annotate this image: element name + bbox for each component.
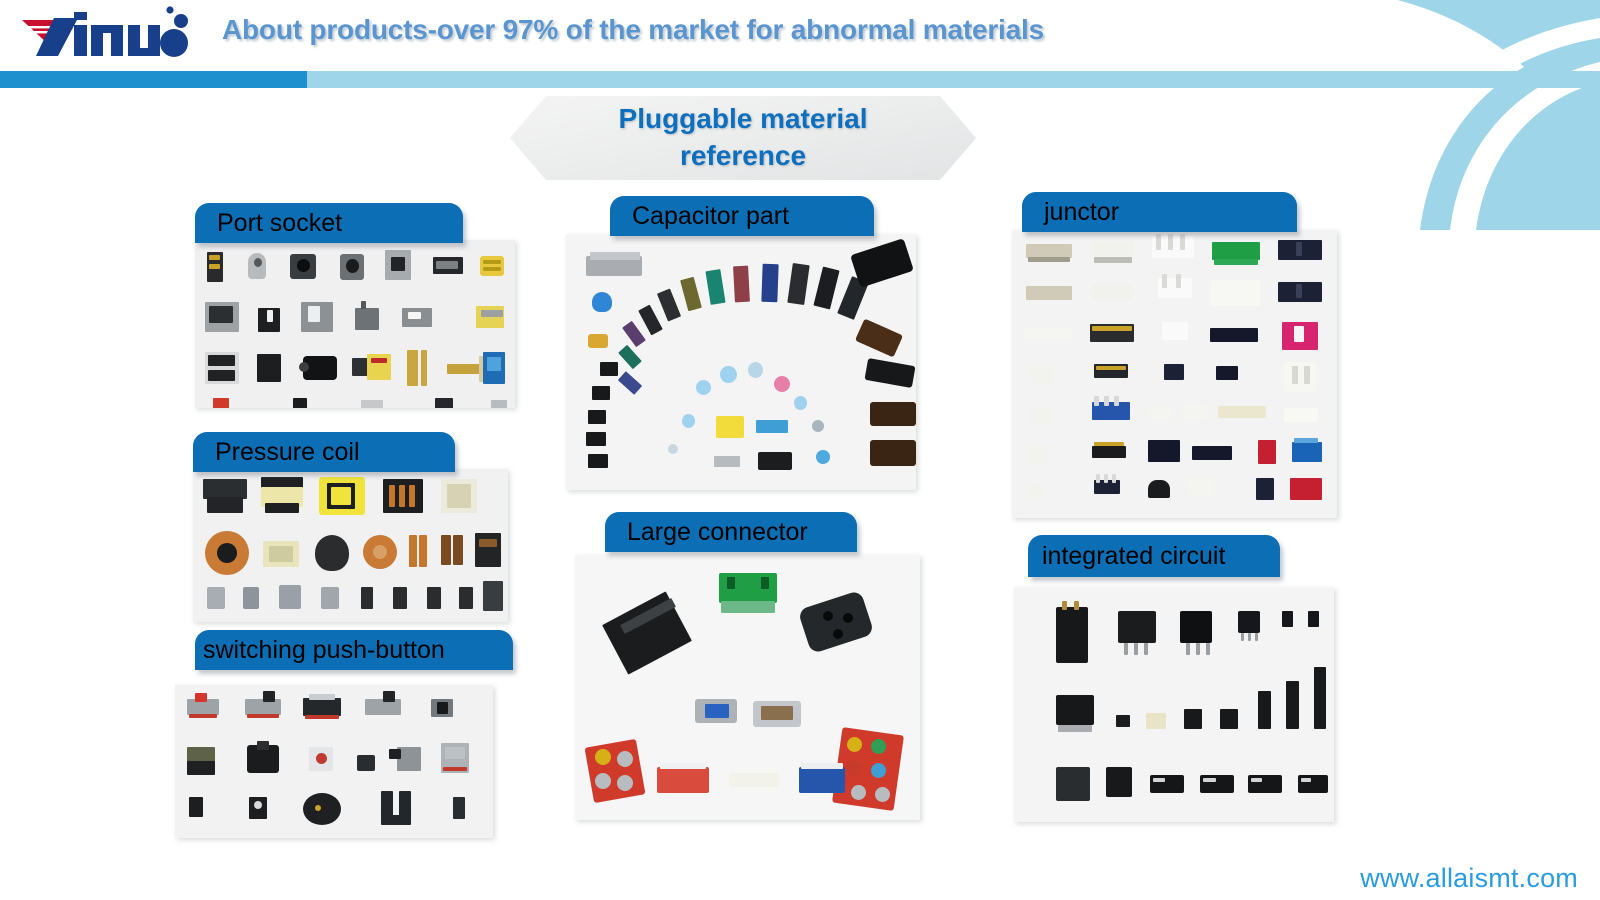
section-switching-push-button: switching push-button xyxy=(195,630,515,838)
footer-website-url[interactable]: www.allaismt.com xyxy=(1360,863,1578,894)
label-pressure-coil[interactable]: Pressure coil xyxy=(193,432,455,472)
photo-integrated-circuit-content xyxy=(1014,587,1334,822)
header-divider-bar xyxy=(0,71,1600,88)
label-junctor-text: junctor xyxy=(1044,198,1119,227)
logo-dot-small xyxy=(166,6,173,13)
label-integrated-circuit-text: integrated circuit xyxy=(1042,542,1225,571)
photo-capacitor-part xyxy=(566,234,916,490)
company-logo xyxy=(18,6,198,62)
photo-large-connector-content xyxy=(575,555,920,820)
photo-switching-push-button-content xyxy=(175,685,493,838)
label-large-connector[interactable]: Large connector xyxy=(605,512,857,552)
label-switching-push-button[interactable]: switching push-button xyxy=(195,630,513,670)
label-port-socket[interactable]: Port socket xyxy=(195,203,463,243)
photo-capacitor-part-content xyxy=(566,234,916,490)
photo-integrated-circuit xyxy=(1014,587,1334,822)
label-capacitor-part-text: Capacitor part xyxy=(632,202,789,231)
chevron-line-1: Pluggable material xyxy=(619,101,868,138)
photo-junctor xyxy=(1012,230,1337,518)
photo-junctor-content xyxy=(1012,230,1337,518)
photo-large-connector xyxy=(575,555,920,820)
photo-port-socket xyxy=(195,240,515,408)
section-port-socket: Port socket xyxy=(195,203,515,408)
label-integrated-circuit[interactable]: integrated circuit xyxy=(1028,535,1280,577)
label-pressure-coil-text: Pressure coil xyxy=(215,438,360,467)
section-junctor: junctor xyxy=(1012,192,1337,522)
slide-header: About products-over 97% of the market fo… xyxy=(0,0,1600,88)
section-large-connector: Large connector xyxy=(605,512,950,822)
section-heading-chevron: Pluggable material reference xyxy=(510,96,976,180)
logo-dot-large xyxy=(174,14,188,28)
photo-port-socket-content xyxy=(195,240,515,408)
section-integrated-circuit: integrated circuit xyxy=(1020,535,1340,825)
section-capacitor-part: Capacitor part xyxy=(600,196,950,496)
photo-switching-push-button xyxy=(175,685,493,838)
page-title: About products-over 97% of the market fo… xyxy=(222,14,1044,46)
yinuo-logo-svg xyxy=(18,6,198,62)
slide-canvas: About products-over 97% of the market fo… xyxy=(0,0,1600,900)
section-heading-text: Pluggable material reference xyxy=(619,101,868,175)
header-bar-dark-segment xyxy=(0,71,307,88)
section-pressure-coil: Pressure coil xyxy=(193,432,508,622)
label-switching-push-button-text: switching push-button xyxy=(203,636,445,665)
label-large-connector-text: Large connector xyxy=(627,518,808,547)
label-junctor[interactable]: junctor xyxy=(1022,192,1297,232)
label-capacitor-part[interactable]: Capacitor part xyxy=(610,196,874,236)
label-port-socket-text: Port socket xyxy=(217,209,342,238)
photo-pressure-coil xyxy=(193,469,508,622)
header-bar-light-segment xyxy=(307,71,1600,88)
photo-pressure-coil-content xyxy=(193,469,508,622)
chevron-line-2: reference xyxy=(619,138,868,175)
